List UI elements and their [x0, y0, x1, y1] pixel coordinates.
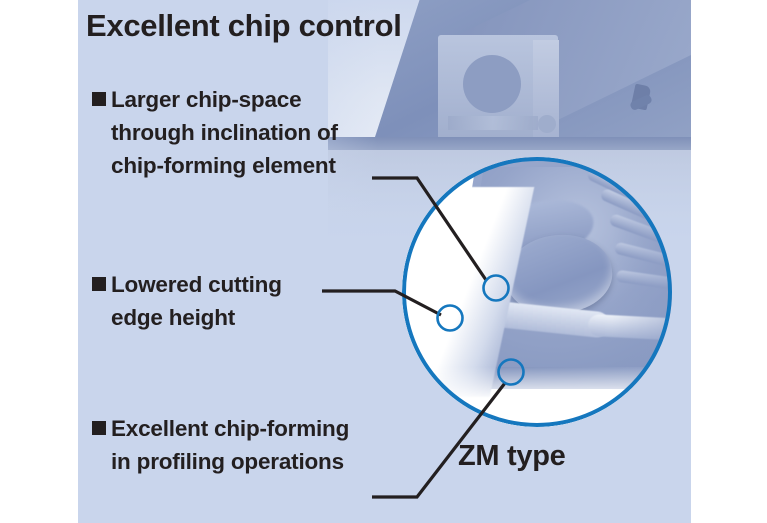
bullet-square-icon — [92, 277, 106, 291]
page-title: Excellent chip control — [86, 8, 402, 44]
bullet-excellent-chip-forming: Excellent chip-forming in profiling oper… — [92, 412, 349, 478]
bullet-text: edge height — [92, 301, 282, 334]
bullet-text: through inclination of — [92, 116, 338, 149]
bullet-text: Excellent chip-forming — [111, 416, 349, 441]
bullet-square-icon — [92, 92, 106, 106]
bullet-text: chip-forming element — [92, 149, 338, 182]
diagram-root: Excellent chip control Larger chip-space… — [0, 0, 767, 523]
bullet-line: Excellent chip-forming — [92, 412, 349, 445]
bullet-lowered-cutting-edge-height: Lowered cutting edge height — [92, 268, 282, 334]
bullet-text: Larger chip-space — [111, 87, 301, 112]
bullet-text: Lowered cutting — [111, 272, 282, 297]
bullet-line: Lowered cutting — [92, 268, 282, 301]
magnifier-caption: ZM type — [458, 440, 565, 473]
bullet-line: Larger chip-space — [92, 83, 338, 116]
magnifier-circle — [402, 157, 672, 427]
bullet-square-icon — [92, 421, 106, 435]
bullet-text: in profiling operations — [92, 445, 349, 478]
bullet-larger-chip-space: Larger chip-space through inclination of… — [92, 83, 338, 182]
